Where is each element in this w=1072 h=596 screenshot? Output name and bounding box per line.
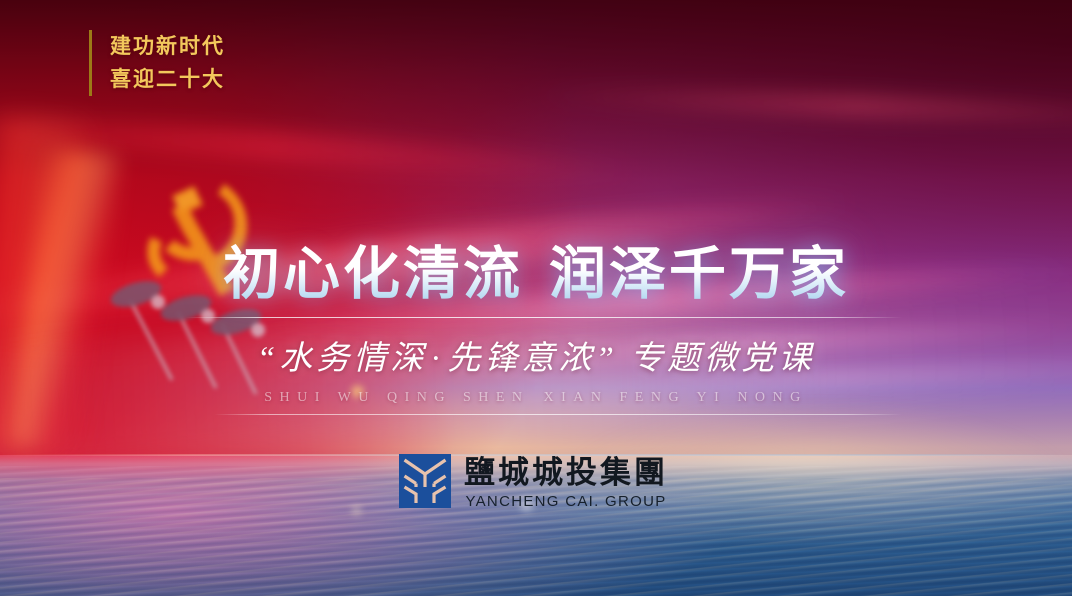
slogan-line-2: 喜迎二十大 bbox=[110, 63, 225, 96]
subtitle-phrase-1: 水务情深 bbox=[279, 341, 427, 377]
subtitle-close-quote: ” bbox=[596, 341, 618, 377]
silk-strand bbox=[536, 84, 1072, 128]
divider-below-pinyin bbox=[214, 414, 902, 415]
subtitle-tail: 专题微党课 bbox=[630, 341, 815, 377]
pinyin-part-1: SHUI WU QING SHEN bbox=[264, 390, 529, 405]
corner-slogan: 建功新时代 喜迎二十大 bbox=[89, 30, 225, 96]
subtitle-open-quote: “ bbox=[257, 341, 279, 377]
logo-chinese-name: 鹽城城投集團 bbox=[464, 456, 668, 490]
poster-canvas: 建功新时代 喜迎二十大 初心化清流润泽千万家 “水务情深·先锋意浓” 专题微党课… bbox=[0, 0, 1072, 596]
logo-english-name: YANCHENG CAI. GROUP bbox=[465, 493, 666, 510]
divider-above-subtitle bbox=[186, 317, 902, 318]
logo-text-block: 鹽城城投集團 YANCHENG CAI. GROUP bbox=[464, 454, 668, 510]
slogan-line-1: 建功新时代 bbox=[110, 30, 225, 63]
cube-logo-mark-icon bbox=[399, 454, 451, 508]
company-logo: 鹽城城投集團 YANCHENG CAI. GROUP bbox=[399, 454, 668, 510]
title-part-2: 润泽千万家 bbox=[549, 242, 849, 306]
title-part-1: 初心化清流 bbox=[223, 242, 523, 306]
subtitle-dot: · bbox=[427, 341, 447, 377]
page-title: 初心化清流润泽千万家 bbox=[0, 243, 1072, 305]
subtitle: “水务情深·先锋意浓” 专题微党课 bbox=[0, 331, 1072, 379]
pinyin-line: SHUI WU QING SHENXIAN FENG YI NONG bbox=[0, 390, 1072, 406]
pinyin-part-2: XIAN FENG YI NONG bbox=[544, 390, 808, 405]
subtitle-phrase-2: 先锋意浓 bbox=[448, 341, 596, 377]
